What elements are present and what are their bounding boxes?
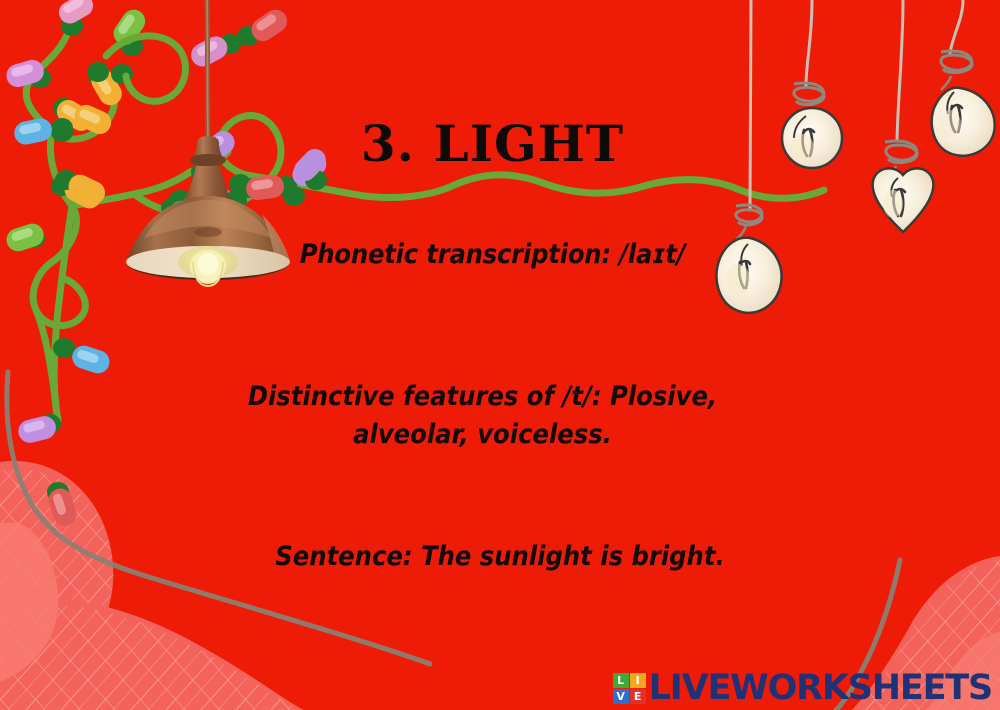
- example-sentence-line: Sentence: The sunlight is bright.: [0, 541, 1000, 572]
- liveworksheets-wordmark: LIVEWORKSHEETS: [649, 671, 992, 706]
- slide-text-content: 3. LIGHT Phonetic transcription: /laɪt/ …: [0, 0, 1000, 710]
- logo-tile-i: I: [630, 673, 646, 688]
- liveworksheets-logo[interactable]: L I V E LIVEWORKSHEETS: [613, 671, 992, 706]
- worksheet-slide: 3. LIGHT Phonetic transcription: /laɪt/ …: [0, 0, 1000, 710]
- phonetic-transcription-line: Phonetic transcription: /laɪt/: [0, 239, 985, 270]
- distinctive-features-block: Distinctive features of /t/: Plosive, al…: [0, 378, 965, 454]
- distinctive-features-line-1: Distinctive features of /t/: Plosive,: [0, 378, 965, 416]
- logo-tile-v: V: [613, 689, 629, 704]
- distinctive-features-line-2: alveolar, voiceless.: [0, 416, 965, 454]
- page-title: 3. LIGHT: [0, 118, 985, 171]
- logo-tile-e: E: [630, 689, 646, 704]
- logo-tile-l: L: [613, 673, 629, 688]
- liveworksheets-logo-tiles: L I V E: [613, 673, 646, 704]
